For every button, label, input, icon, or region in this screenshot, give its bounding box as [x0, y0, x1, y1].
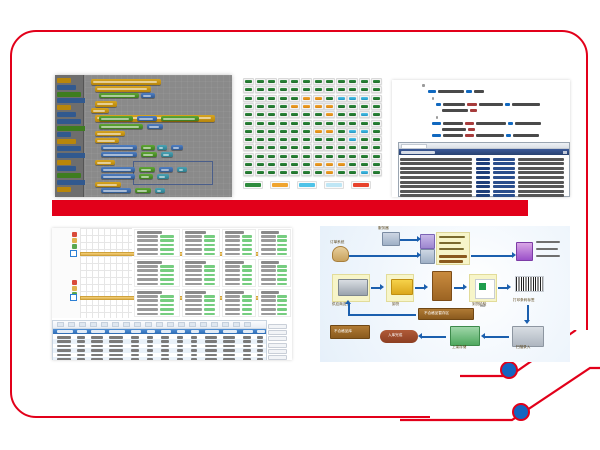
grid-cell[interactable]: [301, 153, 312, 160]
grid-cell[interactable]: [336, 144, 347, 151]
grid-cell[interactable]: [371, 153, 382, 160]
code-token: [505, 103, 510, 106]
code-block[interactable]: [95, 160, 115, 165]
table-toolbar[interactable]: [53, 321, 266, 329]
grid-cell[interactable]: [266, 86, 277, 93]
grid-cell[interactable]: [347, 153, 358, 160]
schedule-card[interactable]: [134, 229, 180, 257]
grid-cell[interactable]: [371, 103, 382, 110]
grid-cell[interactable]: [255, 136, 266, 143]
grid-cell[interactable]: [289, 120, 300, 127]
table-column-header[interactable]: [161, 330, 171, 333]
grid-cell[interactable]: [336, 95, 347, 102]
palette-block[interactable]: [57, 173, 81, 178]
grid-cell[interactable]: [336, 161, 347, 168]
grid-cell[interactable]: [359, 169, 370, 176]
truck-icon: [338, 279, 368, 296]
grid-cell[interactable]: [255, 169, 266, 176]
grid-cell[interactable]: [278, 95, 289, 102]
code-token: [422, 84, 425, 87]
grid-cell[interactable]: [243, 120, 254, 127]
grid-cell[interactable]: [243, 144, 254, 151]
palette-block[interactable]: [57, 112, 76, 117]
grid-cell[interactable]: [371, 161, 382, 168]
table-row[interactable]: [53, 357, 266, 360]
schedule-card[interactable]: [134, 259, 180, 287]
grid-cell[interactable]: [324, 86, 335, 93]
grid-cell[interactable]: [255, 161, 266, 168]
arrowhead: [463, 284, 467, 290]
blocks-canvas[interactable]: [85, 75, 232, 197]
palette-block[interactable]: [57, 126, 86, 131]
grid-cell[interactable]: [324, 78, 335, 85]
grid-cell[interactable]: [278, 128, 289, 135]
grid-cell[interactable]: [313, 120, 324, 127]
grid-cell[interactable]: [301, 161, 312, 168]
code-block[interactable]: [177, 167, 187, 172]
grid-cell[interactable]: [359, 95, 370, 102]
toolbar-icon[interactable]: [145, 322, 152, 327]
code-block[interactable]: [101, 188, 131, 193]
grid-cell[interactable]: [289, 128, 300, 135]
legend-swatch: [297, 181, 317, 189]
close-icon[interactable]: [563, 151, 567, 154]
grid-cell[interactable]: [243, 161, 254, 168]
grid-cell[interactable]: [324, 136, 335, 143]
grid-cell[interactable]: [289, 78, 300, 85]
schedule-card[interactable]: [222, 259, 256, 287]
code-block[interactable]: [95, 138, 119, 143]
code-block[interactable]: [157, 145, 167, 150]
grid-cell[interactable]: [255, 103, 266, 110]
toolbar-icon[interactable]: [123, 322, 130, 327]
schedule-card[interactable]: [182, 289, 220, 317]
status-lamp: [72, 238, 77, 243]
toolbar-icon[interactable]: [244, 322, 251, 327]
grid-cell[interactable]: [301, 128, 312, 135]
code-block[interactable]: [141, 152, 157, 157]
grid-cell[interactable]: [313, 95, 324, 102]
toolbar-icon[interactable]: [79, 322, 86, 327]
panel-code-editor[interactable]: [392, 80, 570, 197]
grid-cell[interactable]: [243, 153, 254, 160]
grid-cell[interactable]: [301, 111, 312, 118]
toolbar-icon[interactable]: [167, 322, 174, 327]
table-column-header[interactable]: [257, 330, 265, 333]
grid-cell[interactable]: [313, 144, 324, 151]
grid-cell[interactable]: [371, 78, 382, 85]
grid-cell[interactable]: [278, 86, 289, 93]
toolbar-icon[interactable]: [112, 322, 119, 327]
toolbar-icon[interactable]: [57, 322, 64, 327]
grid-cell[interactable]: [324, 144, 335, 151]
palette-block[interactable]: [57, 119, 81, 124]
table-column-header[interactable]: [131, 330, 141, 333]
grid-cell[interactable]: [266, 128, 277, 135]
code-block[interactable]: [101, 167, 135, 172]
grid-cell[interactable]: [266, 111, 277, 118]
palette-block[interactable]: [57, 166, 76, 171]
code-block[interactable]: [95, 101, 117, 107]
grid-cell[interactable]: [359, 144, 370, 151]
grid-cell[interactable]: [336, 120, 347, 127]
code-block[interactable]: [99, 124, 143, 129]
code-block[interactable]: [101, 152, 137, 157]
grid-cell[interactable]: [324, 153, 335, 160]
grid-cell[interactable]: [359, 78, 370, 85]
grid-cell[interactable]: [313, 169, 324, 176]
panel-blocks-editor[interactable]: [55, 75, 232, 197]
code-block[interactable]: [159, 167, 173, 172]
grid-cell[interactable]: [347, 111, 358, 118]
grid-cell[interactable]: [347, 78, 358, 85]
schedule-card[interactable]: [222, 229, 256, 257]
grid-cell[interactable]: [324, 95, 335, 102]
grid-cell[interactable]: [324, 120, 335, 127]
palette-block[interactable]: [57, 105, 71, 110]
palette-block[interactable]: [57, 187, 71, 192]
code-token: [513, 134, 539, 137]
grid-cell[interactable]: [301, 95, 312, 102]
arrowhead: [507, 284, 511, 290]
grid-cell[interactable]: [313, 153, 324, 160]
grid-cell[interactable]: [255, 95, 266, 102]
table-action-button[interactable]: [268, 349, 287, 354]
grid-cell[interactable]: [255, 78, 266, 85]
grid-cell[interactable]: [243, 103, 254, 110]
palette-block[interactable]: [57, 139, 76, 144]
table-column-header[interactable]: [177, 330, 185, 333]
grid-cell[interactable]: [278, 78, 289, 85]
schedule-card[interactable]: [258, 229, 291, 257]
node-label-reject-area: 不合格品暂存区: [424, 312, 449, 316]
log-line: [400, 175, 570, 179]
grid-cell[interactable]: [336, 111, 347, 118]
grid-cell[interactable]: [371, 169, 382, 176]
code-block[interactable]: [155, 188, 165, 193]
grid-cell[interactable]: [347, 144, 358, 151]
grid-cell[interactable]: [359, 161, 370, 168]
code-block[interactable]: [99, 116, 133, 121]
grid-cell[interactable]: [301, 86, 312, 93]
grid-cell[interactable]: [266, 153, 277, 160]
grid-cell[interactable]: [289, 144, 300, 151]
legend-swatch: [243, 181, 263, 189]
node-receive-area[interactable]: [430, 270, 452, 302]
grid-cell[interactable]: [347, 161, 358, 168]
toolbar-icon[interactable]: [222, 322, 229, 327]
grid-cell[interactable]: [278, 144, 289, 151]
grid-cell[interactable]: [359, 86, 370, 93]
grid-cell[interactable]: [278, 169, 289, 176]
code-block[interactable]: [139, 167, 155, 172]
accent-dot-lower: [512, 403, 530, 421]
code-token: [468, 128, 475, 131]
panel-status-grid[interactable]: [243, 78, 381, 178]
grid-cell[interactable]: [313, 136, 324, 143]
code-block[interactable]: [135, 188, 151, 193]
grid-cell[interactable]: [371, 86, 382, 93]
grid-cell[interactable]: [255, 153, 266, 160]
table-column-header[interactable]: [205, 330, 219, 333]
grid-cell[interactable]: [324, 169, 335, 176]
table-action-button[interactable]: [268, 336, 287, 341]
code-block[interactable]: [101, 145, 137, 150]
code-block[interactable]: [95, 182, 121, 187]
arrowhead: [512, 252, 516, 258]
code-token: [467, 103, 477, 106]
grid-cell[interactable]: [255, 128, 266, 135]
grid-cell[interactable]: [371, 128, 382, 135]
grid-cell[interactable]: [243, 169, 254, 176]
grid-cell[interactable]: [347, 128, 358, 135]
grid-cell[interactable]: [336, 103, 347, 110]
grid-cell[interactable]: [255, 111, 266, 118]
schedule-card-area[interactable]: [134, 229, 291, 317]
grid-cell[interactable]: [243, 136, 254, 143]
grid-cell[interactable]: [243, 128, 254, 135]
grid-cell[interactable]: [289, 103, 300, 110]
table-action-button[interactable]: [268, 355, 287, 360]
grid-cell[interactable]: [289, 169, 300, 176]
code-block[interactable]: [157, 174, 169, 179]
grid-cell[interactable]: [371, 120, 382, 127]
grid-cell[interactable]: [359, 111, 370, 118]
code-token: [465, 134, 474, 137]
schedule-card[interactable]: [182, 259, 220, 287]
grid-cell[interactable]: [359, 120, 370, 127]
grid-cell[interactable]: [266, 161, 277, 168]
code-block[interactable]: [101, 174, 135, 179]
grid-cell[interactable]: [289, 153, 300, 160]
node-supplier-ship[interactable]: [332, 274, 370, 302]
grid-cell[interactable]: [289, 111, 300, 118]
grid-cell[interactable]: [301, 103, 312, 110]
grid-cell[interactable]: [289, 86, 300, 93]
node-label-unload: 卸货: [392, 303, 399, 307]
grid-cell[interactable]: [289, 136, 300, 143]
grid-cell[interactable]: [301, 169, 312, 176]
table-action-button[interactable]: [268, 330, 287, 335]
schedule-card[interactable]: [258, 289, 291, 317]
grid-cell[interactable]: [278, 111, 289, 118]
legend-swatch: [324, 181, 344, 189]
grid-cell[interactable]: [255, 120, 266, 127]
code-block[interactable]: [141, 93, 155, 98]
code-block[interactable]: [161, 116, 199, 121]
table-column-header[interactable]: [223, 330, 237, 333]
table-action-button[interactable]: [268, 343, 287, 348]
palette-block[interactable]: [57, 180, 86, 185]
arrow-6: [485, 336, 509, 338]
grid-cell[interactable]: [301, 144, 312, 151]
code-block[interactable]: [141, 145, 155, 150]
schedule-card[interactable]: [134, 289, 180, 317]
toolbar-icon[interactable]: [178, 322, 185, 327]
palette-block[interactable]: [57, 132, 71, 137]
grid-cell[interactable]: [336, 78, 347, 85]
grid-cell[interactable]: [301, 78, 312, 85]
grid-cell[interactable]: [313, 78, 324, 85]
data-table[interactable]: [52, 320, 267, 360]
table-column-header[interactable]: [109, 330, 125, 333]
grid-cell[interactable]: [301, 120, 312, 127]
grid-cell[interactable]: [243, 111, 254, 118]
grid-cell[interactable]: [278, 120, 289, 127]
code-token: [515, 122, 541, 125]
grid-cell[interactable]: [347, 120, 358, 127]
code-block[interactable]: [99, 93, 139, 98]
toolbar-icon[interactable]: [189, 322, 196, 327]
grid-cell[interactable]: [266, 78, 277, 85]
server-icon: [382, 232, 400, 246]
grid-cell[interactable]: [243, 95, 254, 102]
code-block[interactable]: [171, 145, 183, 150]
grid-cell[interactable]: [359, 103, 370, 110]
code-block[interactable]: [137, 116, 157, 121]
schedule-node[interactable]: [70, 250, 77, 257]
hand-scanner-icon: [512, 326, 544, 347]
grid-cell[interactable]: [313, 111, 324, 118]
grid-cell[interactable]: [278, 153, 289, 160]
grid-cell[interactable]: [243, 78, 254, 85]
arrow-workstation-to-rack: [471, 255, 513, 257]
grid-cell[interactable]: [347, 169, 358, 176]
grid-cell[interactable]: [324, 128, 335, 135]
code-block[interactable]: [147, 124, 163, 129]
grid-cell[interactable]: [347, 86, 358, 93]
table-side-buttons[interactable]: [266, 321, 290, 360]
code-token: [479, 103, 503, 106]
grid-cell[interactable]: [347, 95, 358, 102]
schedule-grid[interactable]: [80, 228, 132, 318]
grid-cell[interactable]: [336, 169, 347, 176]
toolbar-icon[interactable]: [101, 322, 108, 327]
code-block[interactable]: [91, 108, 109, 113]
schedule-node[interactable]: [70, 294, 77, 301]
grid-cell[interactable]: [324, 161, 335, 168]
schedule-card[interactable]: [258, 259, 291, 287]
grid-cell[interactable]: [313, 128, 324, 135]
grid-cell[interactable]: [289, 95, 300, 102]
grid-cell[interactable]: [336, 86, 347, 93]
palette-block[interactable]: [57, 78, 71, 83]
table-column-header[interactable]: [57, 330, 73, 333]
grid-cell[interactable]: [313, 86, 324, 93]
toolbar-icon[interactable]: [90, 322, 97, 327]
code-block[interactable]: [91, 79, 161, 85]
code-block[interactable]: [161, 152, 173, 157]
palette-block[interactable]: [57, 85, 76, 90]
arrow-7: [422, 336, 446, 338]
toolbar-icon[interactable]: [134, 322, 141, 327]
grid-cell[interactable]: [336, 153, 347, 160]
grid-cell[interactable]: [301, 136, 312, 143]
grid-cell[interactable]: [266, 95, 277, 102]
palette-block[interactable]: [57, 160, 71, 165]
grid-cell[interactable]: [371, 111, 382, 118]
grid-cell[interactable]: [359, 136, 370, 143]
arrowhead: [380, 284, 384, 290]
grid-cell[interactable]: [371, 95, 382, 102]
grid-cell[interactable]: [266, 120, 277, 127]
output-window[interactable]: [398, 142, 570, 197]
grid-cell[interactable]: [313, 161, 324, 168]
toolbar-icon[interactable]: [211, 322, 218, 327]
grid-cell[interactable]: [278, 136, 289, 143]
right-side-labels: [536, 240, 562, 262]
blocks-palette[interactable]: [55, 75, 84, 197]
toolbar-icon[interactable]: [156, 322, 163, 327]
table-column-header[interactable]: [91, 330, 105, 333]
schedule-sidebar[interactable]: [52, 228, 81, 318]
grid-cell[interactable]: [371, 144, 382, 151]
arrowhead: [481, 333, 485, 339]
grid-cell[interactable]: [266, 136, 277, 143]
grid-cell[interactable]: [278, 103, 289, 110]
grid-cell[interactable]: [347, 136, 358, 143]
schedule-card[interactable]: [182, 229, 220, 257]
putaway-icon: [450, 326, 480, 346]
grid-cell[interactable]: [324, 111, 335, 118]
grid-cell[interactable]: [266, 103, 277, 110]
palette-block[interactable]: [57, 98, 86, 103]
table-column-header[interactable]: [243, 330, 253, 333]
toolbar-icon[interactable]: [233, 322, 240, 327]
grid-cell[interactable]: [255, 144, 266, 151]
code-block[interactable]: [95, 131, 125, 136]
grid-cell[interactable]: [266, 169, 277, 176]
node-unload[interactable]: [386, 274, 414, 302]
grid-cell[interactable]: [324, 103, 335, 110]
palette-block[interactable]: [57, 92, 81, 97]
table-column-header[interactable]: [191, 330, 199, 333]
grid-cell[interactable]: [336, 136, 347, 143]
panel-schedule-sheet[interactable]: [52, 228, 292, 360]
grid-cell[interactable]: [359, 153, 370, 160]
code-token: [432, 97, 434, 100]
code-block[interactable]: [95, 86, 151, 92]
node-label-print[interactable]: [513, 274, 545, 298]
node-inspect[interactable]: [469, 274, 497, 302]
blocks-selection-rect: [133, 161, 213, 185]
table-action-button[interactable]: [268, 324, 287, 329]
code-block[interactable]: [139, 174, 153, 179]
grid-cell[interactable]: [289, 161, 300, 168]
arrowhead: [417, 236, 421, 242]
palette-block[interactable]: [57, 153, 86, 158]
grid-cell[interactable]: [347, 103, 358, 110]
table-column-header[interactable]: [77, 330, 87, 333]
panel-flow-diagram[interactable]: 服务器 订单系统 供应商送货: [320, 226, 570, 362]
grid-cell[interactable]: [359, 128, 370, 135]
grid-cell[interactable]: [266, 144, 277, 151]
toolbar-icon[interactable]: [200, 322, 207, 327]
grid-cell[interactable]: [243, 86, 254, 93]
grid-cell[interactable]: [313, 103, 324, 110]
grid-cell[interactable]: [255, 86, 266, 93]
palette-block[interactable]: [57, 146, 81, 151]
table-column-header[interactable]: [147, 330, 155, 333]
node-label-order-sys: 订单系统: [330, 241, 344, 245]
output-tab[interactable]: [401, 144, 427, 148]
code-token: [466, 90, 472, 93]
grid-cell[interactable]: [371, 136, 382, 143]
schedule-card[interactable]: [222, 289, 256, 317]
grid-cell[interactable]: [278, 161, 289, 168]
grid-cell[interactable]: [336, 128, 347, 135]
toolbar-icon[interactable]: [68, 322, 75, 327]
